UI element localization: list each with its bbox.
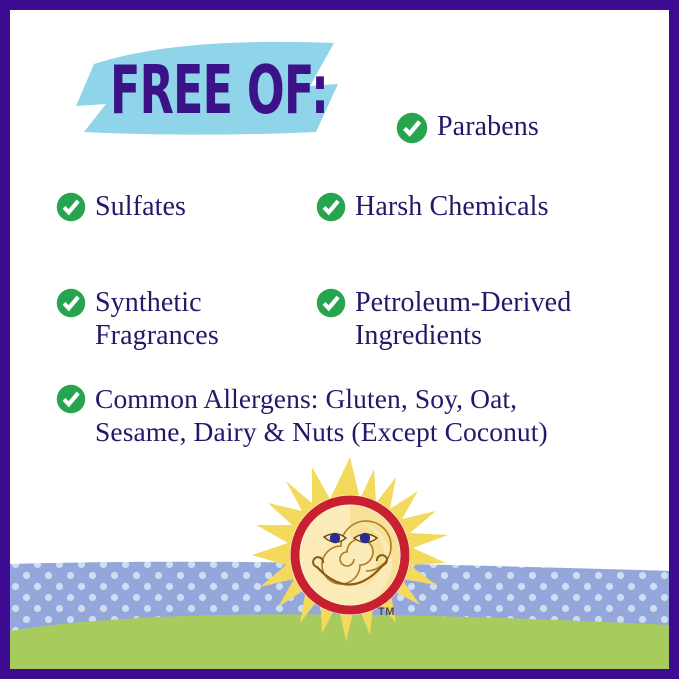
card-inner-area: FREE OF: Parabens Sulfates Harsh Chemica…	[10, 10, 669, 669]
list-item-harsh-chemicals: Harsh Chemicals	[316, 190, 549, 223]
list-item-label: Petroleum-Derived Ingredients	[355, 286, 571, 352]
list-item-common-allergens: Common Allergens: Gluten, Soy, Oat, Sesa…	[56, 382, 548, 448]
list-item-synthetic-fragrances: Synthetic Fragrances	[56, 286, 219, 352]
trademark-symbol: TM	[378, 606, 395, 618]
banner-title: FREE OF:	[110, 54, 313, 127]
list-item-sulfates: Sulfates	[56, 190, 186, 223]
free-of-banner: FREE OF:	[72, 40, 402, 138]
list-item-label: Parabens	[437, 110, 539, 143]
green-check-circle-icon	[56, 192, 86, 222]
list-item-label: Harsh Chemicals	[355, 190, 549, 223]
list-item-label: Synthetic Fragrances	[95, 286, 219, 352]
list-item-parabens: Parabens	[396, 110, 539, 144]
list-item-label: Sulfates	[95, 190, 186, 223]
list-item-petroleum-derived-ingredients: Petroleum-Derived Ingredients	[316, 286, 571, 352]
green-check-circle-icon	[316, 192, 346, 222]
green-check-circle-icon	[396, 112, 428, 144]
green-check-circle-icon	[56, 384, 86, 414]
green-check-circle-icon	[316, 288, 346, 318]
green-check-circle-icon	[56, 288, 86, 318]
smiling-sun-logo	[250, 455, 450, 655]
list-item-label: Common Allergens: Gluten, Soy, Oat, Sesa…	[95, 382, 548, 448]
free-of-graphic-card: FREE OF: Parabens Sulfates Harsh Chemica…	[0, 0, 679, 679]
